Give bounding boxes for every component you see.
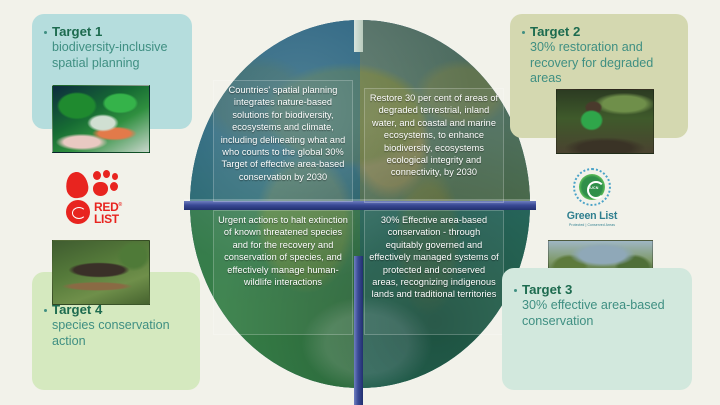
iucn-red-list-logo: RED® LIST	[66, 170, 152, 226]
vertical-divider-top	[354, 20, 363, 52]
paw-toe-icon	[112, 173, 118, 180]
globe-text-bottom-right: 30% Effective area-based conservation - …	[364, 210, 504, 335]
red-list-wordmark: RED® LIST	[94, 200, 122, 225]
paw-toe-icon	[93, 171, 101, 180]
panel-target-3-title-row: Target 3	[514, 282, 680, 298]
bullet-icon	[44, 309, 47, 312]
green-list-disc-icon: IUCN	[579, 174, 605, 200]
green-list-subtitle: Protected | Conserved Areas	[552, 223, 632, 227]
paw-toe-icon	[110, 182, 118, 191]
globe-text-top-left: Countries' spatial planning integrates n…	[213, 80, 353, 202]
globe-text-top-right: Restore 30 per cent of areas of degraded…	[364, 88, 504, 203]
slide-canvas: Countries' spatial planning integrates n…	[0, 0, 720, 405]
satellite-landcover-photo	[52, 85, 150, 153]
iucn-circle-icon	[66, 200, 90, 224]
panel-target-3[interactable]: Target 3 30% effective area-based conser…	[502, 268, 692, 390]
bird-on-branch-photo	[52, 240, 150, 305]
panel-target-1-text: Target 1 biodiversity-inclusive spatial …	[32, 14, 192, 71]
bullet-icon	[514, 289, 517, 292]
panel-target-3-title: Target 3	[522, 282, 572, 298]
globe-text-bottom-left: Urgent actions to halt extinction of kno…	[213, 210, 353, 335]
iucn-green-list-logo: IUCN Green List Protected | Conserved Ar…	[552, 168, 632, 230]
panel-target-3-subtitle: 30% effective area-based conservation	[514, 298, 680, 329]
trademark-symbol: ®	[118, 202, 121, 208]
panel-target-2-title: Target 2	[530, 24, 580, 40]
panel-target-3-text: Target 3 30% effective area-based conser…	[502, 268, 692, 329]
panel-target-2-text: Target 2 30% restoration and recovery fo…	[510, 14, 688, 87]
green-list-title: Green List	[552, 210, 632, 222]
red-list-word-bottom: LIST	[94, 212, 119, 226]
iucn-inner-label: IUCN	[589, 186, 599, 190]
paw-toe-icon	[103, 170, 110, 178]
bullet-icon	[522, 31, 525, 34]
iucn-c-icon	[587, 181, 605, 199]
panel-target-1-title-row: Target 1	[44, 24, 180, 40]
tree-planting-photo	[556, 89, 654, 154]
red-droplet-icon	[64, 171, 89, 200]
bullet-icon	[44, 31, 47, 34]
globe-diagram: Countries' spatial planning integrates n…	[190, 20, 530, 388]
panel-target-1-subtitle: biodiversity-inclusive spatial planning	[44, 40, 180, 71]
panel-target-4-subtitle: species conservation action	[44, 318, 188, 349]
panel-target-2-subtitle: 30% restoration and recovery for degrade…	[522, 40, 676, 87]
green-list-dotted-ring-icon: IUCN	[573, 168, 611, 206]
vertical-divider-bottom	[354, 256, 363, 405]
paw-pad-icon	[93, 182, 108, 196]
panel-target-2-title-row: Target 2	[522, 24, 676, 40]
panel-target-1-title: Target 1	[52, 24, 102, 40]
